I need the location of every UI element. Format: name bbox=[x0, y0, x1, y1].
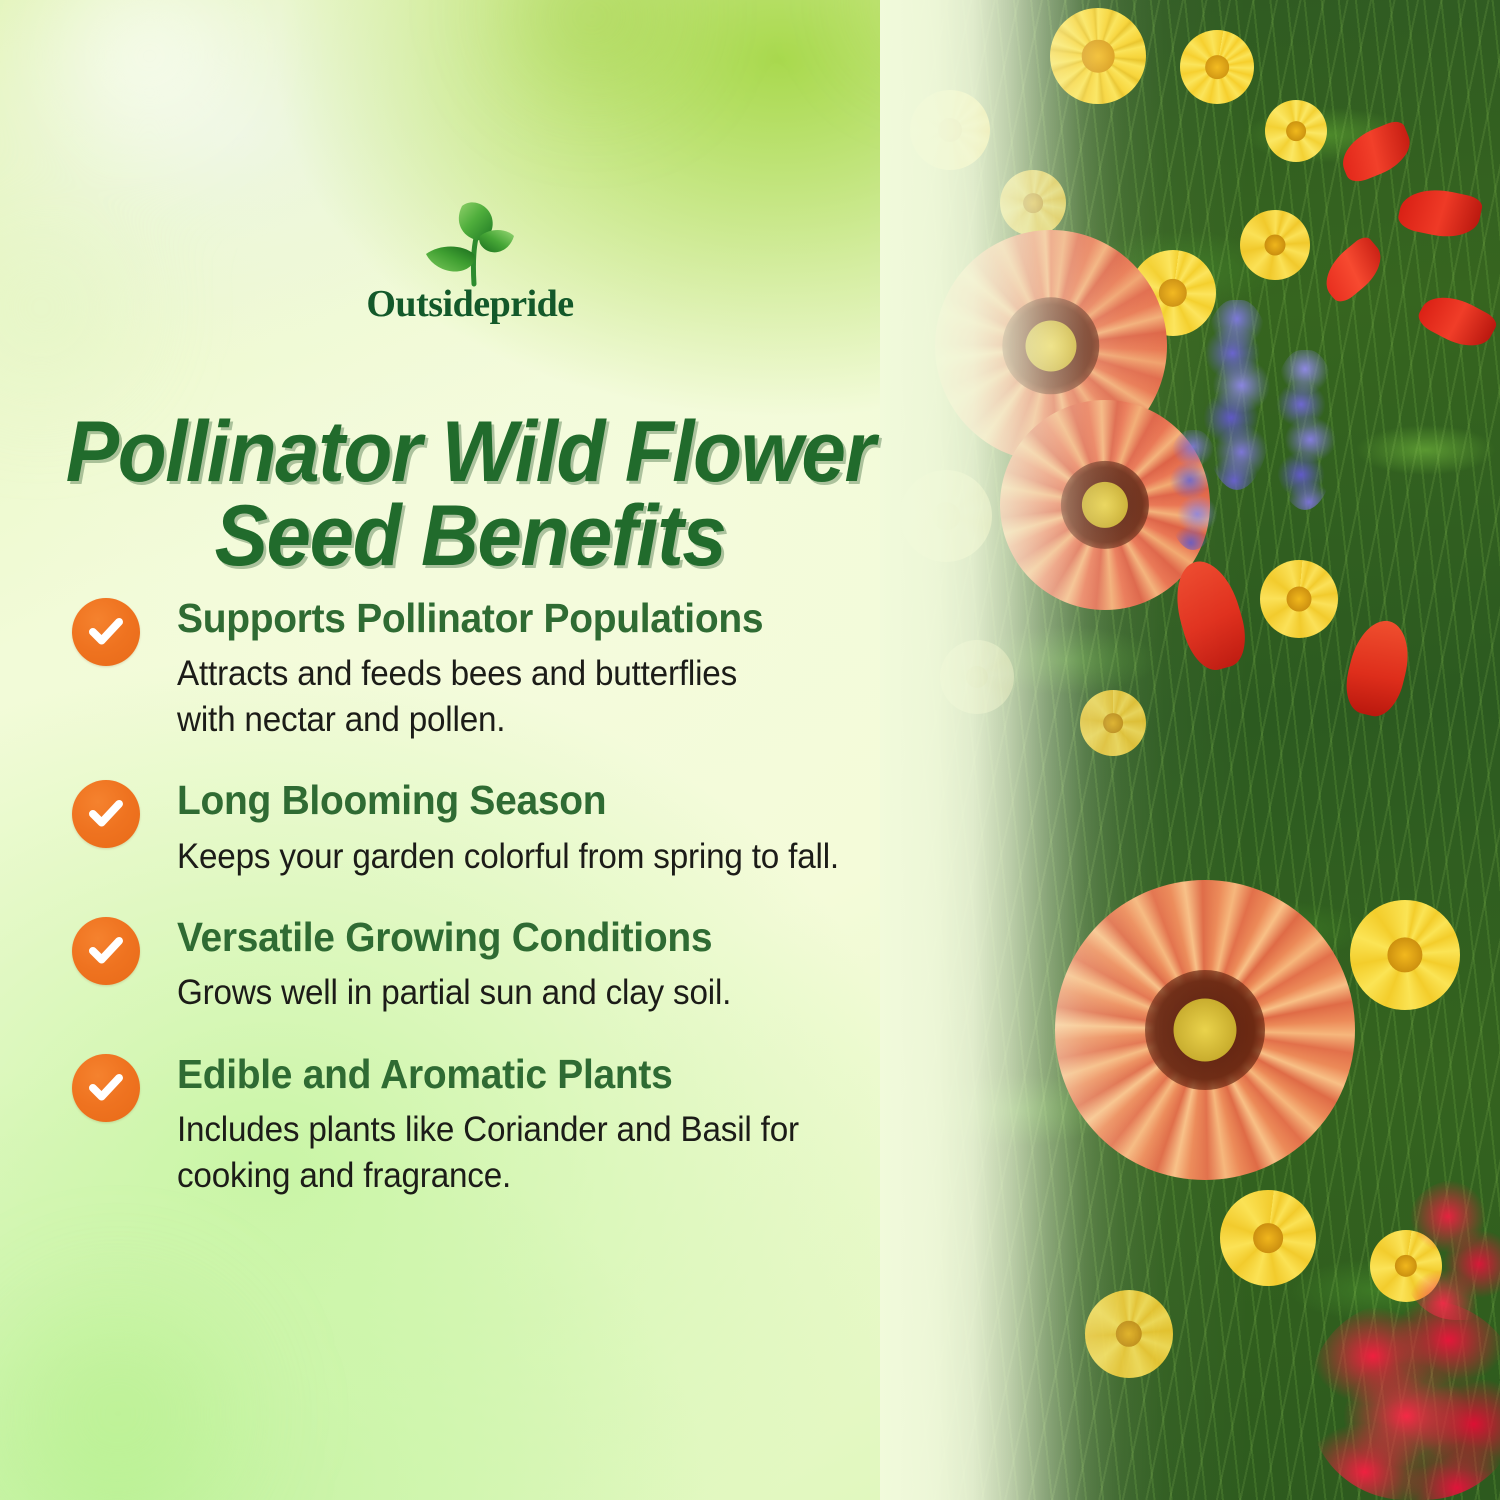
benefit-title: Long Blooming Season bbox=[177, 778, 885, 822]
benefit-item: Edible and Aromatic Plants Includes plan… bbox=[72, 1052, 922, 1198]
benefit-description-line: Keeps your garden colorful from spring t… bbox=[177, 834, 885, 880]
benefit-description-line: Attracts and feeds bees and butterflies bbox=[177, 651, 885, 697]
check-circle-icon bbox=[72, 598, 140, 666]
benefit-item: Long Blooming Season Keeps your garden c… bbox=[72, 778, 922, 879]
check-circle-icon bbox=[72, 917, 140, 985]
content-column: Outsidepride Pollinator Wild Flower Seed… bbox=[0, 0, 940, 1500]
benefits-list: Supports Pollinator Populations Attracts… bbox=[72, 596, 922, 1198]
brand-wordmark: Outsidepride bbox=[0, 282, 940, 326]
benefit-description: Grows well in partial sun and clay soil. bbox=[177, 970, 885, 1016]
benefit-item: Supports Pollinator Populations Attracts… bbox=[72, 596, 922, 742]
check-glyph bbox=[86, 1067, 126, 1107]
poster-canvas: Outsidepride Pollinator Wild Flower Seed… bbox=[0, 0, 1500, 1500]
benefit-title: Supports Pollinator Populations bbox=[177, 596, 885, 640]
benefit-description-line: with nectar and pollen. bbox=[177, 697, 885, 743]
wildflower-photo bbox=[880, 0, 1500, 1500]
benefit-description: Includes plants like Coriander and Basil… bbox=[177, 1107, 885, 1198]
benefit-description-line: cooking and fragrance. bbox=[177, 1153, 885, 1199]
benefit-description-line: Grows well in partial sun and clay soil. bbox=[177, 970, 885, 1016]
benefit-item: Versatile Growing Conditions Grows well … bbox=[72, 915, 922, 1016]
check-glyph bbox=[86, 930, 126, 970]
benefit-title: Edible and Aromatic Plants bbox=[177, 1052, 885, 1096]
benefit-description: Attracts and feeds bees and butterflies … bbox=[177, 651, 885, 742]
benefit-title: Versatile Growing Conditions bbox=[177, 915, 885, 959]
page-title-line2: Seed Benefits bbox=[33, 494, 907, 578]
check-circle-icon bbox=[72, 1054, 140, 1122]
brand-logo: Outsidepride bbox=[0, 196, 940, 326]
sprout-leaves-icon bbox=[410, 196, 530, 288]
check-glyph bbox=[86, 611, 126, 651]
benefit-description-line: Includes plants like Coriander and Basil… bbox=[177, 1107, 885, 1153]
check-glyph bbox=[86, 793, 126, 833]
benefit-description: Keeps your garden colorful from spring t… bbox=[177, 834, 885, 880]
photo-left-fade bbox=[880, 0, 1500, 1500]
page-title-line1: Pollinator Wild Flower bbox=[66, 404, 874, 500]
check-circle-icon bbox=[72, 780, 140, 848]
page-title: Pollinator Wild Flower Seed Benefits bbox=[33, 410, 907, 579]
